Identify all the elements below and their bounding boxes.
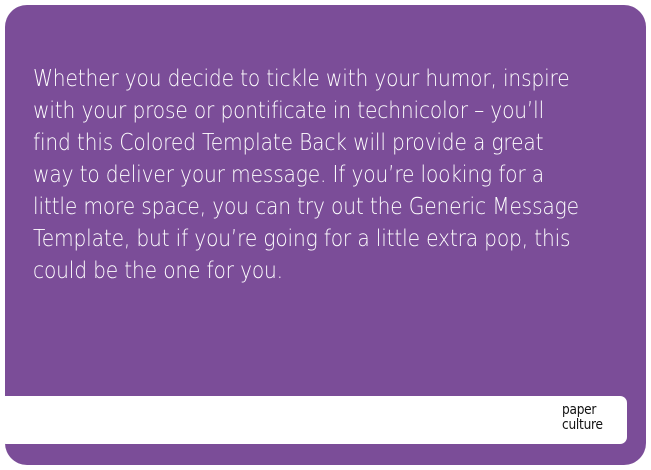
logo-line-culture: culture bbox=[562, 418, 603, 433]
paper-culture-logo: paper culture bbox=[562, 403, 611, 433]
message-line: little more space, you can try out the G… bbox=[33, 190, 536, 222]
greeting-card-back: Whether you decide to tickle with your h… bbox=[0, 0, 651, 470]
footer-white-strip: paper culture bbox=[5, 396, 627, 444]
message-line: with your prose or pontificate in techni… bbox=[33, 94, 536, 126]
message-text-block: Whether you decide to tickle with your h… bbox=[33, 62, 618, 286]
message-line: Template, but if you’re going for a litt… bbox=[33, 222, 536, 254]
logo-line-paper: paper bbox=[562, 403, 603, 418]
message-line: find this Colored Template Back will pro… bbox=[33, 126, 536, 158]
purple-card-panel: Whether you decide to tickle with your h… bbox=[5, 5, 646, 465]
message-line: Whether you decide to tickle with your h… bbox=[33, 62, 536, 94]
message-line: way to deliver your message. If you’re l… bbox=[33, 158, 536, 190]
message-line: could be the one for you. bbox=[33, 254, 536, 286]
